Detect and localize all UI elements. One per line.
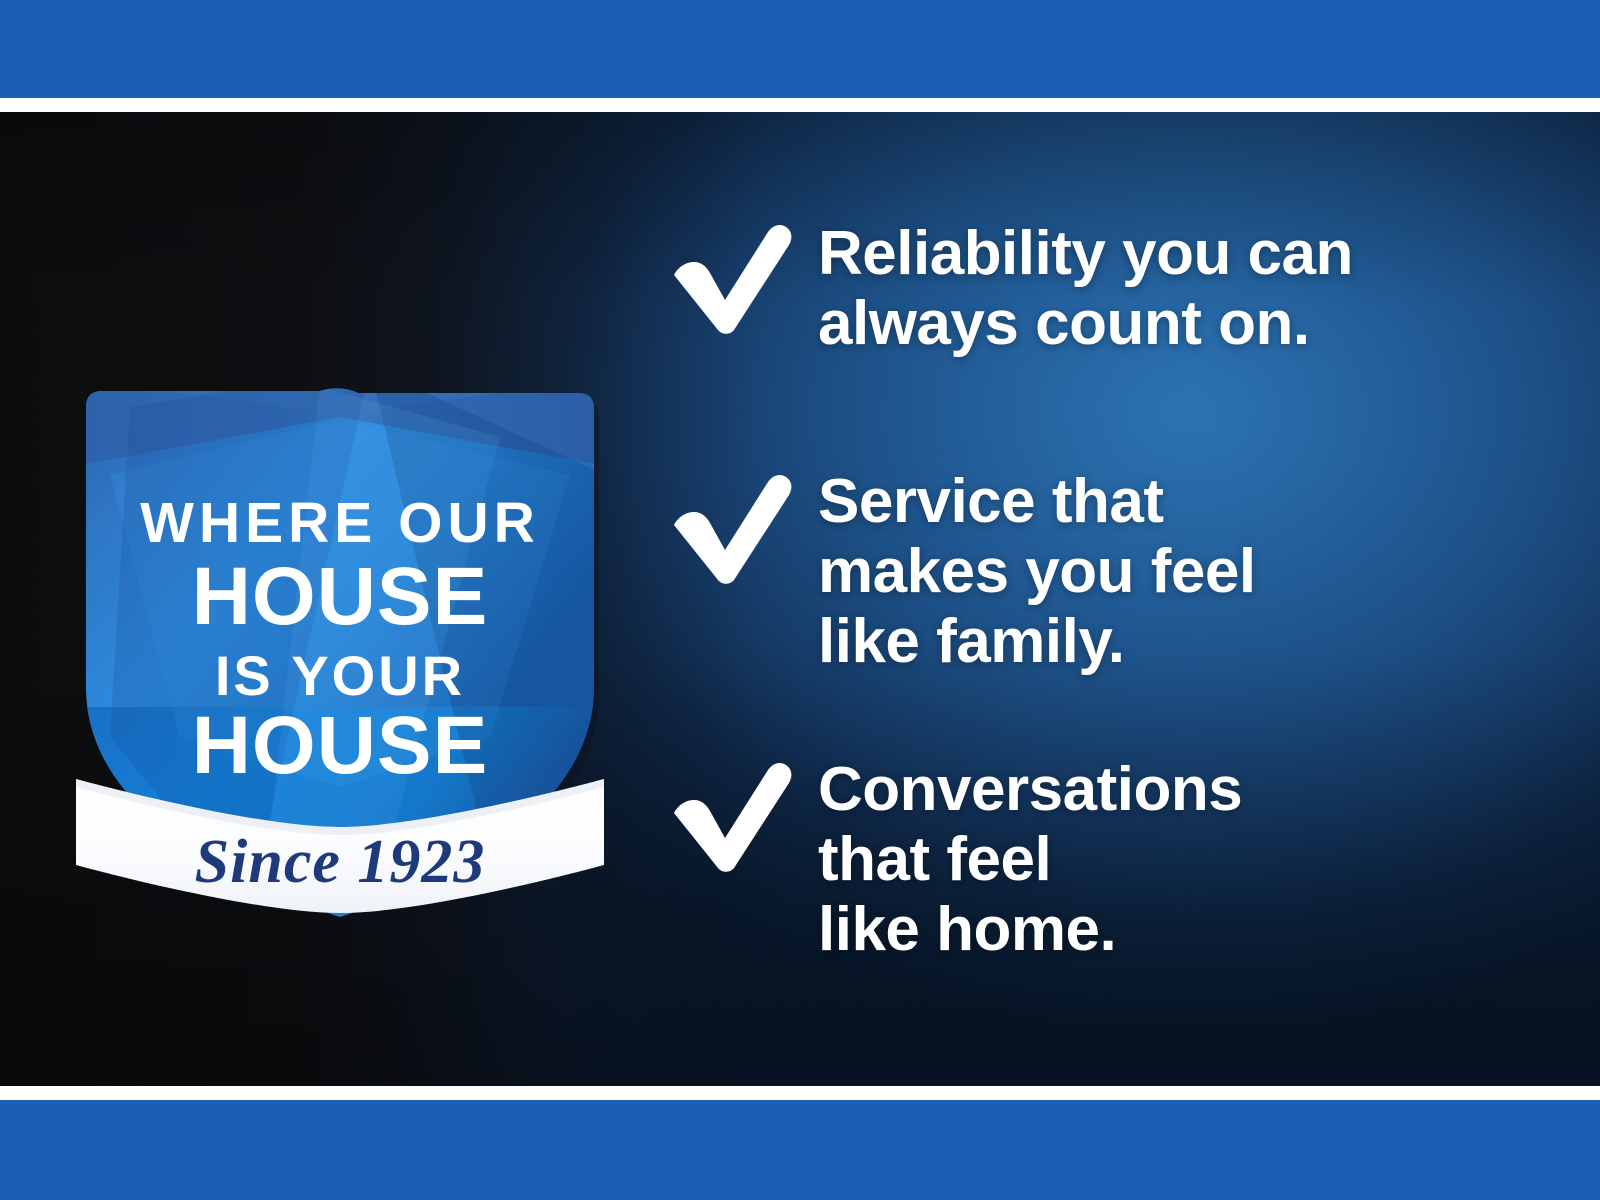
top-brand-bar [0, 0, 1600, 98]
checkmark-icon [668, 223, 796, 335]
list-item: Service that makes you feel like family. [668, 467, 1548, 677]
logo-line-2: HOUSE [192, 551, 489, 642]
bottom-brand-bar [0, 1100, 1600, 1200]
top-white-divider [0, 98, 1600, 112]
logo-line-1: WHERE OUR [140, 491, 540, 555]
logo-line-3: IS YOUR [215, 644, 465, 707]
list-item-text: Conversations that feel like home. [818, 755, 1548, 965]
checkmark-icon [668, 761, 796, 873]
list-item-text: Service that makes you feel like family. [818, 467, 1548, 677]
benefits-list: Reliability you can always count on. Ser… [668, 217, 1548, 965]
logo-wordmark: WHERE OUR HOUSE IS YOUR HOUSE [140, 491, 540, 791]
main-stage: WHERE OUR HOUSE IS YOUR HOUSE Since 1923 [0, 112, 1600, 1086]
list-item-text: Reliability you can always count on. [818, 217, 1548, 359]
list-item: Conversations that feel like home. [668, 755, 1548, 965]
company-shield-logo: WHERE OUR HOUSE IS YOUR HOUSE Since 1923 [70, 267, 610, 917]
check-slot [668, 217, 818, 335]
check-slot [668, 755, 818, 873]
logo-line-4: HOUSE [192, 700, 489, 791]
promo-graphic: WHERE OUR HOUSE IS YOUR HOUSE Since 1923 [0, 0, 1600, 1200]
check-slot [668, 467, 818, 585]
list-item: Reliability you can always count on. [668, 217, 1548, 359]
logo-ribbon-text: Since 1923 [195, 828, 486, 896]
checkmark-icon [668, 473, 796, 585]
bottom-white-divider [0, 1086, 1600, 1100]
